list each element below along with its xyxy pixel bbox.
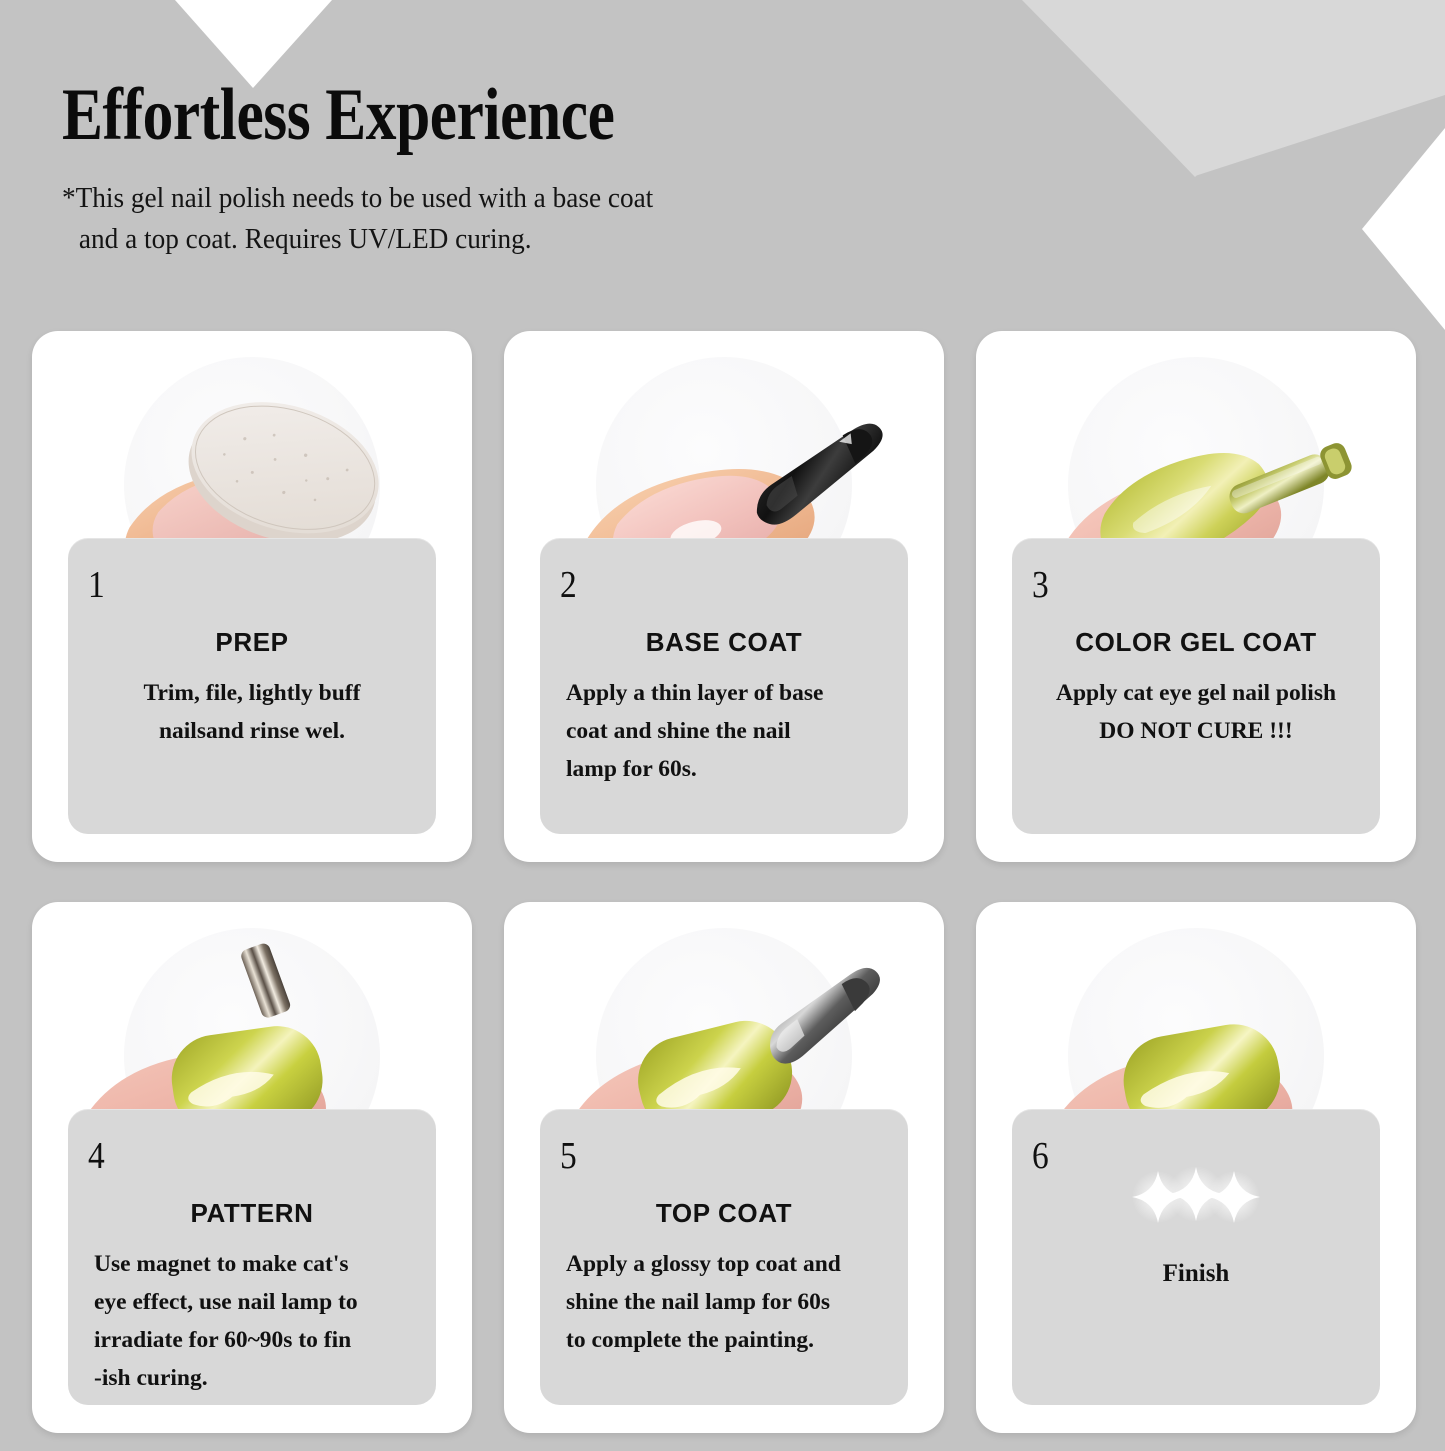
step-heading: COLOR GEL COAT — [1012, 627, 1380, 658]
subtitle-line-1: *This gel nail polish needs to be used w… — [62, 182, 653, 214]
step-4-info-panel: 4 PATTERN Use magnet to make cat's eye e… — [68, 1109, 436, 1405]
step-number: 2 — [560, 566, 577, 604]
step-card-2[interactable]: 2 BASE COAT Apply a thin layer of base c… — [504, 331, 944, 862]
page-title: Effortless Experience — [62, 78, 934, 152]
step-card-4[interactable]: 4 PATTERN Use magnet to make cat's eye e… — [32, 902, 472, 1433]
step-heading: PATTERN — [68, 1198, 436, 1229]
steps-grid: 1 PREP Trim, file, lightly buff nailsand… — [32, 331, 1416, 1451]
step-number: 1 — [88, 566, 105, 604]
page-subtitle: *This gel nail polish needs to be used w… — [62, 178, 1049, 260]
step-heading: TOP COAT — [540, 1198, 908, 1229]
step-number: 3 — [1032, 566, 1049, 604]
step-card-3[interactable]: 3 COLOR GEL COAT Apply cat eye gel nail … — [976, 331, 1416, 862]
step-card-5[interactable]: 5 TOP COAT Apply a glossy top coat and s… — [504, 902, 944, 1433]
step-1-info-panel: 1 PREP Trim, file, lightly buff nailsand… — [68, 538, 436, 834]
step-5-info-panel: 5 TOP COAT Apply a glossy top coat and s… — [540, 1109, 908, 1405]
top-right-white-triangle — [1362, 128, 1445, 330]
step-3-info-panel: 3 COLOR GEL COAT Apply cat eye gel nail … — [1012, 538, 1380, 834]
step-body: Finish — [1012, 1260, 1380, 1288]
step-number: 4 — [88, 1137, 105, 1175]
step-body: Use magnet to make cat's eye effect, use… — [94, 1245, 410, 1397]
step-heading: PREP — [68, 627, 436, 658]
step-body: Apply a thin layer of base coat and shin… — [566, 674, 882, 788]
page-header: Effortless Experience *This gel nail pol… — [62, 78, 1112, 260]
step-card-1[interactable]: 1 PREP Trim, file, lightly buff nailsand… — [32, 331, 472, 862]
step-body: Apply cat eye gel nail polish DO NOT CUR… — [1038, 674, 1354, 750]
step-2-info-panel: 2 BASE COAT Apply a thin layer of base c… — [540, 538, 908, 834]
step-number: 5 — [560, 1137, 577, 1175]
step-body: Trim, file, lightly buff nailsand rinse … — [94, 674, 410, 750]
step-body: Apply a glossy top coat and shine the na… — [566, 1245, 882, 1359]
step-6-info-panel: 6 — [1012, 1109, 1380, 1405]
subtitle-line-2: and a top coat. Requires UV/LED curing. — [62, 219, 1049, 260]
step-card-6[interactable]: 6 — [976, 902, 1416, 1433]
step-heading: BASE COAT — [540, 627, 908, 658]
sparkle-icon — [1012, 1167, 1380, 1227]
